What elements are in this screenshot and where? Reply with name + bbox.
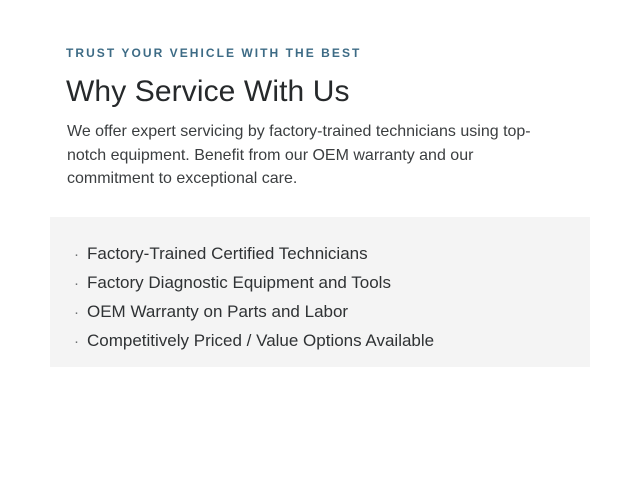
feature-label: Factory-Trained Certified Technicians (87, 239, 590, 268)
list-item: · Factory Diagnostic Equipment and Tools (50, 268, 590, 297)
marketing-section: TRUST YOUR VEHICLE WITH THE BEST Why Ser… (0, 0, 640, 480)
feature-label: Competitively Priced / Value Options Ava… (87, 326, 590, 355)
page-title: Why Service With Us (50, 61, 590, 109)
feature-label: OEM Warranty on Parts and Labor (87, 297, 590, 326)
bullet-dot-icon: · (74, 240, 87, 269)
bullet-dot-icon: · (74, 269, 87, 298)
list-item: · Factory-Trained Certified Technicians (50, 239, 590, 268)
feature-list: · Factory-Trained Certified Technicians … (50, 239, 590, 355)
list-item: · OEM Warranty on Parts and Labor (50, 297, 590, 326)
section-eyebrow: TRUST YOUR VEHICLE WITH THE BEST (50, 45, 590, 61)
feature-label: Factory Diagnostic Equipment and Tools (87, 268, 590, 297)
section-content: TRUST YOUR VEHICLE WITH THE BEST Why Ser… (50, 45, 590, 367)
features-panel: · Factory-Trained Certified Technicians … (50, 217, 590, 367)
bullet-dot-icon: · (74, 298, 87, 327)
list-item: · Competitively Priced / Value Options A… (50, 326, 590, 355)
bullet-dot-icon: · (74, 327, 87, 356)
section-description: We offer expert servicing by factory-tra… (50, 109, 563, 191)
